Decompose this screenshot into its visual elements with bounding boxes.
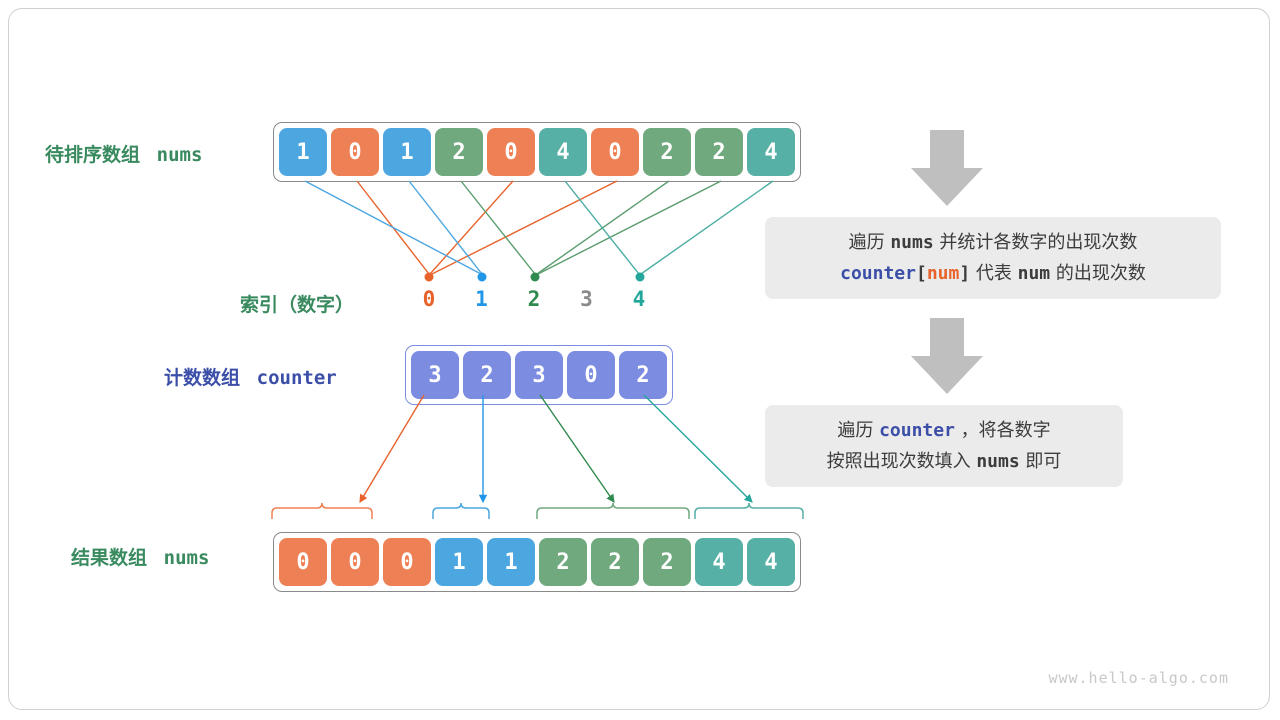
result-array-cell: 2 [539, 538, 587, 586]
note-text: ，将各数字 [955, 420, 1051, 441]
counter-array-cell: 0 [567, 351, 615, 399]
counter-array-cell: 3 [411, 351, 459, 399]
result-array-cell: 2 [643, 538, 691, 586]
result-array-cell: 1 [435, 538, 483, 586]
note-text: [ [916, 263, 927, 284]
note-text: nums [976, 451, 1019, 472]
index-number: 3 [572, 287, 602, 311]
counter-array-label-var: counter [257, 367, 337, 389]
counter-array-cell: 3 [515, 351, 563, 399]
input-array: 1012040224 [273, 122, 801, 182]
counter-array: 32302 [405, 345, 673, 405]
counter-array-cell: 2 [619, 351, 667, 399]
diagram-frame: 待排序数组 nums 1012040224 索引（数字） 01234 计数数组 … [8, 8, 1270, 710]
result-array-label-cn: 结果数组 [71, 547, 147, 569]
note-text: counter [879, 420, 955, 441]
note-text: ] [959, 263, 970, 284]
counter-array-cell: 2 [463, 351, 511, 399]
note-text: counter [840, 263, 916, 284]
note-line: 遍历 nums 并统计各数字的出现次数 [849, 227, 1138, 259]
note-line: counter[num] 代表 num 的出现次数 [840, 258, 1146, 290]
index-number: 4 [624, 287, 654, 311]
input-array-cell: 4 [539, 128, 587, 176]
result-array-cell: 0 [331, 538, 379, 586]
note-text: num [927, 263, 960, 284]
watermark: www.hello-algo.com [1048, 669, 1229, 687]
index-number: 2 [519, 287, 549, 311]
note-text: nums [890, 232, 933, 253]
input-array-cell: 0 [331, 128, 379, 176]
counter-array-label: 计数数组 counter [164, 363, 337, 390]
input-array-label: 待排序数组 nums [45, 140, 202, 167]
input-array-cell: 2 [643, 128, 691, 176]
input-array-label-var: nums [157, 144, 203, 166]
result-array-cell: 0 [279, 538, 327, 586]
note-text: 即可 [1020, 451, 1062, 472]
note-text: num [1018, 263, 1051, 284]
index-number: 1 [467, 287, 497, 311]
counter-array-label-cn: 计数数组 [164, 367, 240, 389]
result-array-cell: 1 [487, 538, 535, 586]
note-line: 按照出现次数填入 nums 即可 [827, 446, 1062, 478]
result-array-cell: 4 [747, 538, 795, 586]
result-array-cell: 0 [383, 538, 431, 586]
note-text: 遍历 [849, 232, 891, 253]
input-array-label-cn: 待排序数组 [45, 144, 140, 166]
result-array-cell: 2 [591, 538, 639, 586]
result-array-label: 结果数组 nums [71, 543, 209, 570]
index-row: 01234 [414, 287, 684, 317]
note-text: 的出现次数 [1050, 263, 1146, 284]
note-text: 并统计各数字的出现次数 [934, 232, 1138, 253]
note-count: 遍历 nums 并统计各数字的出现次数counter[num] 代表 num 的… [765, 217, 1221, 299]
note-text: 按照出现次数填入 [827, 451, 977, 472]
input-array-cell: 0 [591, 128, 639, 176]
input-array-cell: 1 [279, 128, 327, 176]
input-array-cell: 1 [383, 128, 431, 176]
input-array-cell: 4 [747, 128, 795, 176]
note-fill: 遍历 counter ，将各数字按照出现次数填入 nums 即可 [765, 405, 1123, 487]
note-line: 遍历 counter ，将各数字 [837, 415, 1050, 447]
input-array-cell: 2 [695, 128, 743, 176]
result-array: 0001122244 [273, 532, 801, 592]
input-array-cell: 0 [487, 128, 535, 176]
input-array-cell: 2 [435, 128, 483, 176]
result-array-label-var: nums [164, 547, 210, 569]
note-text: 代表 [970, 263, 1017, 284]
index-row-label: 索引（数字） [240, 290, 354, 317]
result-array-cell: 4 [695, 538, 743, 586]
index-number: 0 [414, 287, 444, 311]
note-text: 遍历 [837, 420, 879, 441]
